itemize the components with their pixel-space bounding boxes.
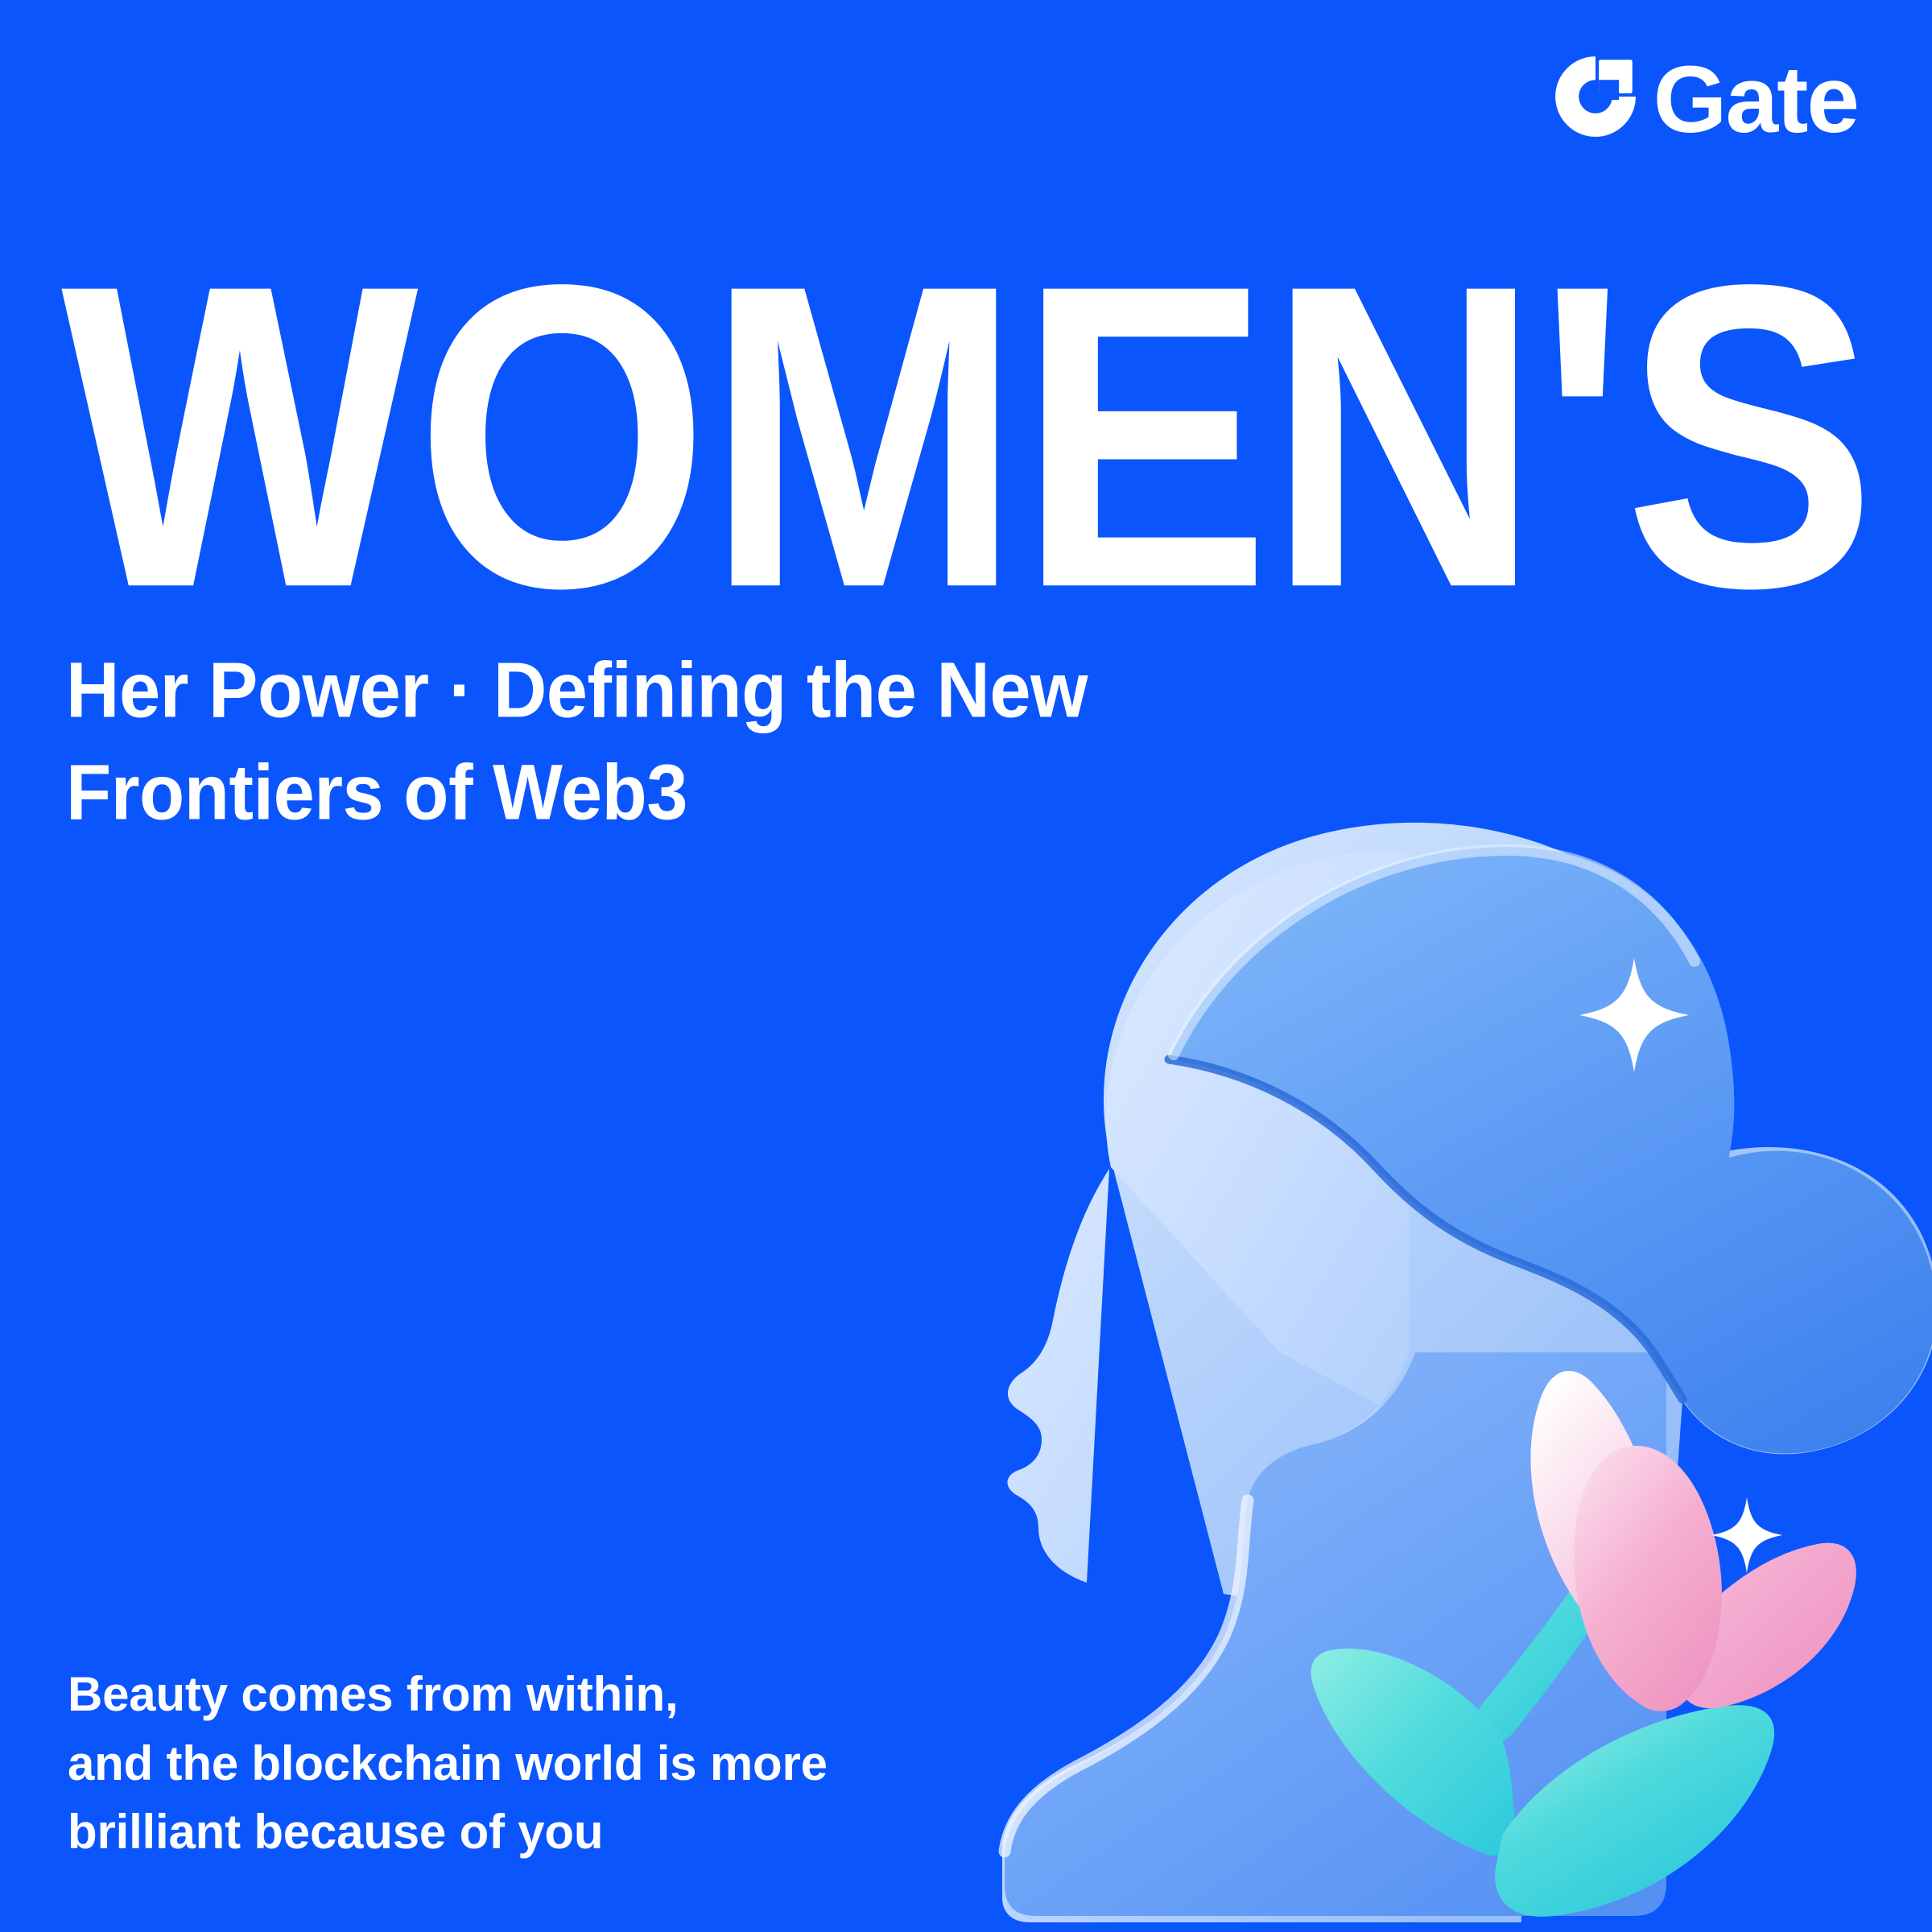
womens-day-poster: Gate WOMEN'S DAY Her Power · Defining th… [0, 0, 1932, 1932]
gate-wordmark: Gate [1653, 52, 1858, 147]
gate-g-mark-icon [1554, 55, 1637, 138]
tagline: Beauty comes from within, and the blockc… [68, 1660, 828, 1866]
woman-profile-with-tulip-illustration [958, 789, 1932, 1932]
gate-logo[interactable]: Gate [1554, 50, 1858, 143]
page-title: WOMEN'S DAY [61, 256, 1671, 618]
subtitle: Her Power · Defining the New Frontiers o… [66, 640, 1088, 844]
